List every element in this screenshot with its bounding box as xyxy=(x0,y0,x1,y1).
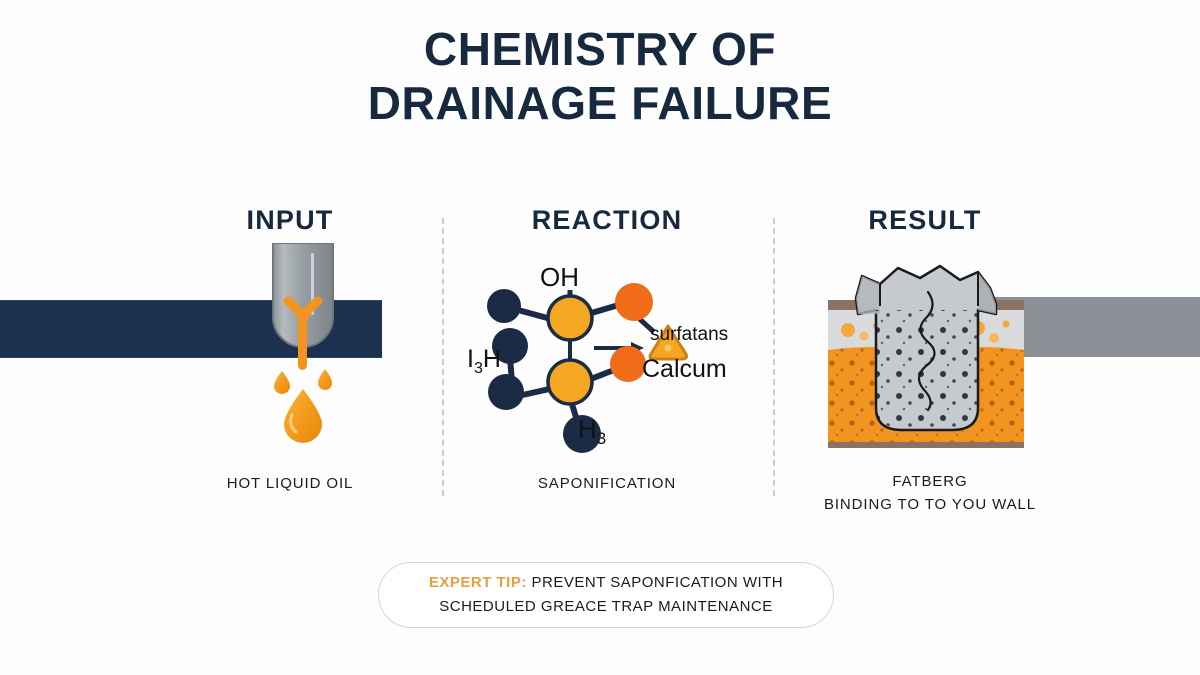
molecule-label-surfactant: surfatans xyxy=(650,324,728,346)
atom-amber-upper-center xyxy=(548,296,592,340)
oil-droplet-large xyxy=(284,389,322,443)
expert-tip-line-2: SCHEDULED GREACE TRAP MAINTENANCE xyxy=(429,595,783,619)
molecule-label-left-tail: H xyxy=(483,345,501,373)
column-header-input: INPUT xyxy=(180,205,400,236)
pipe-dripping-oil-illustration xyxy=(248,243,358,448)
molecule-label-oh: OH xyxy=(540,262,579,293)
caption-result-line-2: BINDING TO TO YOU WALL xyxy=(800,493,1060,516)
molecule-label-bottom: H3 xyxy=(578,414,606,449)
column-header-result: RESULT xyxy=(815,205,1035,236)
fatberg-cross-section-illustration xyxy=(828,258,1024,448)
atom-navy-upper-left xyxy=(487,289,521,323)
column-divider-2 xyxy=(773,218,775,496)
caption-result-line-1: FATBERG xyxy=(800,470,1060,493)
caption-result: FATBERG BINDING TO TO YOU WALL xyxy=(800,470,1060,517)
column-header-reaction: REACTION xyxy=(497,205,717,236)
molecule-label-bottom-main: H xyxy=(578,414,597,444)
atom-orange-upper-right xyxy=(615,283,653,321)
caption-input: HOT LIQUID OIL xyxy=(180,472,400,495)
infographic-canvas: CHEMISTRY OF DRAINAGE FAILURE INPUT REAC… xyxy=(0,0,1200,675)
molecule-label-bottom-sub: 3 xyxy=(597,429,606,448)
atom-amber-lower-center xyxy=(548,360,592,404)
column-divider-1 xyxy=(442,218,444,496)
bubble-6 xyxy=(1003,321,1010,328)
molecule-label-left: I3H xyxy=(467,345,501,378)
title-line-1: CHEMISTRY OF xyxy=(424,23,776,75)
oil-droplet-small-left xyxy=(274,371,290,394)
expert-tip-line-1: PREVENT SAPONFICATION WITH xyxy=(527,574,783,591)
bubble-5 xyxy=(989,333,999,343)
page-title: CHEMISTRY OF DRAINAGE FAILURE xyxy=(0,22,1200,131)
molecule-label-calcium: Calcum xyxy=(642,355,727,384)
molecule-label-left-main: I xyxy=(467,345,474,373)
fatberg-shoulder-right xyxy=(978,272,996,314)
oil-stream xyxy=(298,315,307,370)
oil-droplet-small-right xyxy=(318,369,332,390)
caption-reaction: SAPONIFICATION xyxy=(497,472,717,495)
atom-orange-lower-right xyxy=(610,346,646,382)
atom-navy-lower-left xyxy=(488,374,524,410)
title-line-2: DRAINAGE FAILURE xyxy=(0,76,1200,130)
bubble-2 xyxy=(860,332,869,341)
expert-tip-text: EXPERT TIP: PREVENT SAPONFICATION WITH S… xyxy=(407,571,805,619)
expert-tip-pill: EXPERT TIP: PREVENT SAPONFICATION WITH S… xyxy=(378,562,834,628)
molecule-label-left-sub: 3 xyxy=(474,360,483,377)
expert-tip-lead: EXPERT TIP: xyxy=(429,574,527,591)
bubble-1 xyxy=(841,323,855,337)
